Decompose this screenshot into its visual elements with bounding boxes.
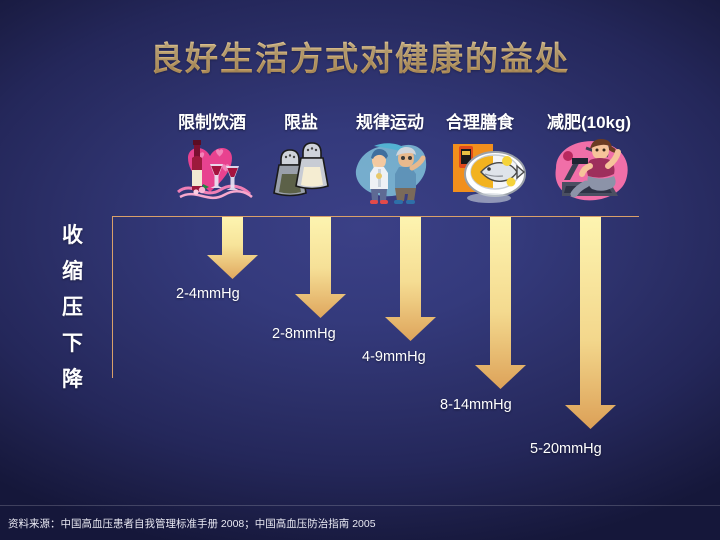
slide-canvas: 良好生活方式对健康的益处 限制饮酒 限盐 规律运动 合理膳食 减肥(10kg) — [0, 0, 720, 540]
column-label-3: 合理膳食 — [420, 108, 540, 133]
salt-pepper-shakers-icon — [273, 136, 333, 208]
chart-axis-left-line — [112, 216, 113, 378]
value-label-2: 4-9mmHg — [362, 349, 426, 365]
down-arrow-2 — [385, 217, 443, 341]
y-axis-char-5: 降 — [56, 362, 90, 398]
y-axis-char-2: 缩 — [56, 254, 90, 290]
y-axis-label: 收 缩 压 下 降 — [56, 218, 90, 398]
column-label-4: 减肥(10kg) — [529, 108, 649, 133]
wine-bottle-glasses-heart-icon — [170, 136, 258, 208]
elderly-couple-exercise-icon — [352, 136, 432, 208]
column-label-0: 限制饮酒 — [152, 108, 272, 133]
treadmill-workout-icon — [546, 136, 636, 208]
y-axis-char-3: 压 — [56, 290, 90, 326]
source-note: 资料来源：中国高血压患者自我管理标准手册 2008；中国高血压防治指南 2005 — [8, 516, 376, 531]
value-label-4: 5-20mmHg — [530, 441, 602, 457]
value-label-1: 2-8mmHg — [272, 326, 336, 342]
value-label-3: 8-14mmHg — [440, 397, 512, 413]
down-arrow-0 — [207, 217, 265, 279]
down-arrow-3 — [475, 217, 533, 389]
footer-divider — [0, 505, 720, 506]
y-axis-char-1: 收 — [56, 218, 90, 254]
value-label-0: 2-4mmHg — [176, 286, 240, 302]
column-label-1: 限盐 — [261, 108, 341, 133]
fish-plate-meal-icon — [447, 136, 529, 208]
down-arrow-1 — [295, 217, 353, 318]
down-arrow-4 — [565, 217, 623, 429]
y-axis-char-4: 下 — [56, 326, 90, 362]
chart-axis-top-line — [112, 216, 639, 217]
page-title: 良好生活方式对健康的益处 — [0, 32, 720, 80]
